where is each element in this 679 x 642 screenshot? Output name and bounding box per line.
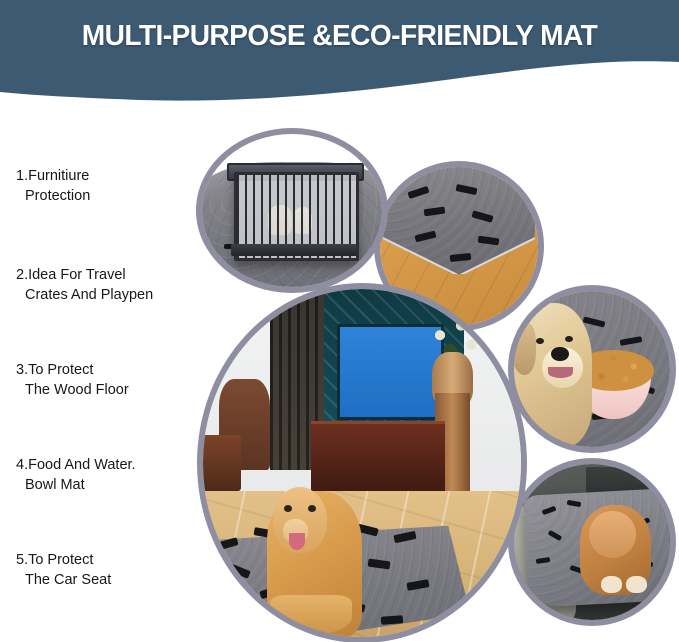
feature-label-line2: Bowl Mat (16, 475, 206, 495)
feature-label-line1: To Protect (28, 552, 93, 568)
feature-label-line2: The Wood Floor (16, 380, 206, 400)
feature-label-line2: Crates And Playpen (16, 285, 206, 305)
dog-eye (284, 505, 292, 512)
feature-label-line2: The Car Seat (16, 570, 206, 590)
feature-item-food-bowl-mat: 4.Food And Water. Bowl Mat (16, 455, 206, 495)
feature-number: 2. (16, 267, 28, 283)
feature-number: 1. (16, 168, 28, 184)
feature-label-line1: Furnitiure (28, 168, 89, 184)
puppy-paw (626, 576, 646, 593)
scene-living-room (203, 289, 521, 637)
feature-number: 5. (16, 552, 28, 568)
crate-base-tray (231, 244, 357, 256)
feature-item-car-seat: 5.To Protect The Car Seat (16, 550, 206, 590)
bubble-dog-crate (196, 128, 388, 293)
scene-car-seat (514, 464, 670, 620)
feature-label-line1: Food And Water. (28, 457, 135, 473)
feature-label-line2: Protection (16, 186, 206, 206)
tv-console-cabinet (311, 421, 445, 501)
dog-eye (308, 505, 316, 512)
product-infographic: MULTI-PURPOSE &ECO-FRIENDLY MAT 1.Furnit… (0, 0, 679, 642)
puppy-face (589, 511, 636, 558)
scene-food-bowl (514, 291, 670, 447)
feature-label-line1: Idea For Travel (28, 267, 126, 283)
feature-item-travel-crates: 2.Idea For Travel Crates And Playpen (16, 265, 206, 305)
side-table (197, 435, 241, 491)
bubble-living-room (197, 283, 527, 642)
feature-label-line1: To Protect (28, 362, 93, 378)
bubble-food-bowl (508, 285, 676, 453)
dog-tongue (289, 533, 305, 550)
page-title: MULTI-PURPOSE &ECO-FRIENDLY MAT (10, 19, 669, 53)
feature-item-furniture-protection: 1.Furnitiure Protection (16, 166, 206, 206)
dog-nose (551, 347, 568, 361)
feature-number: 4. (16, 457, 28, 473)
puppy-paw (601, 576, 621, 593)
dog-eye (536, 338, 544, 344)
dog-front-legs (270, 595, 353, 633)
bubble-car-seat (508, 458, 676, 626)
scene-dog-crate (202, 134, 382, 287)
feature-number: 3. (16, 362, 28, 378)
feature-item-wood-floor: 3.To Protect The Wood Floor (16, 360, 206, 400)
header-banner: MULTI-PURPOSE &ECO-FRIENDLY MAT (0, 0, 679, 104)
